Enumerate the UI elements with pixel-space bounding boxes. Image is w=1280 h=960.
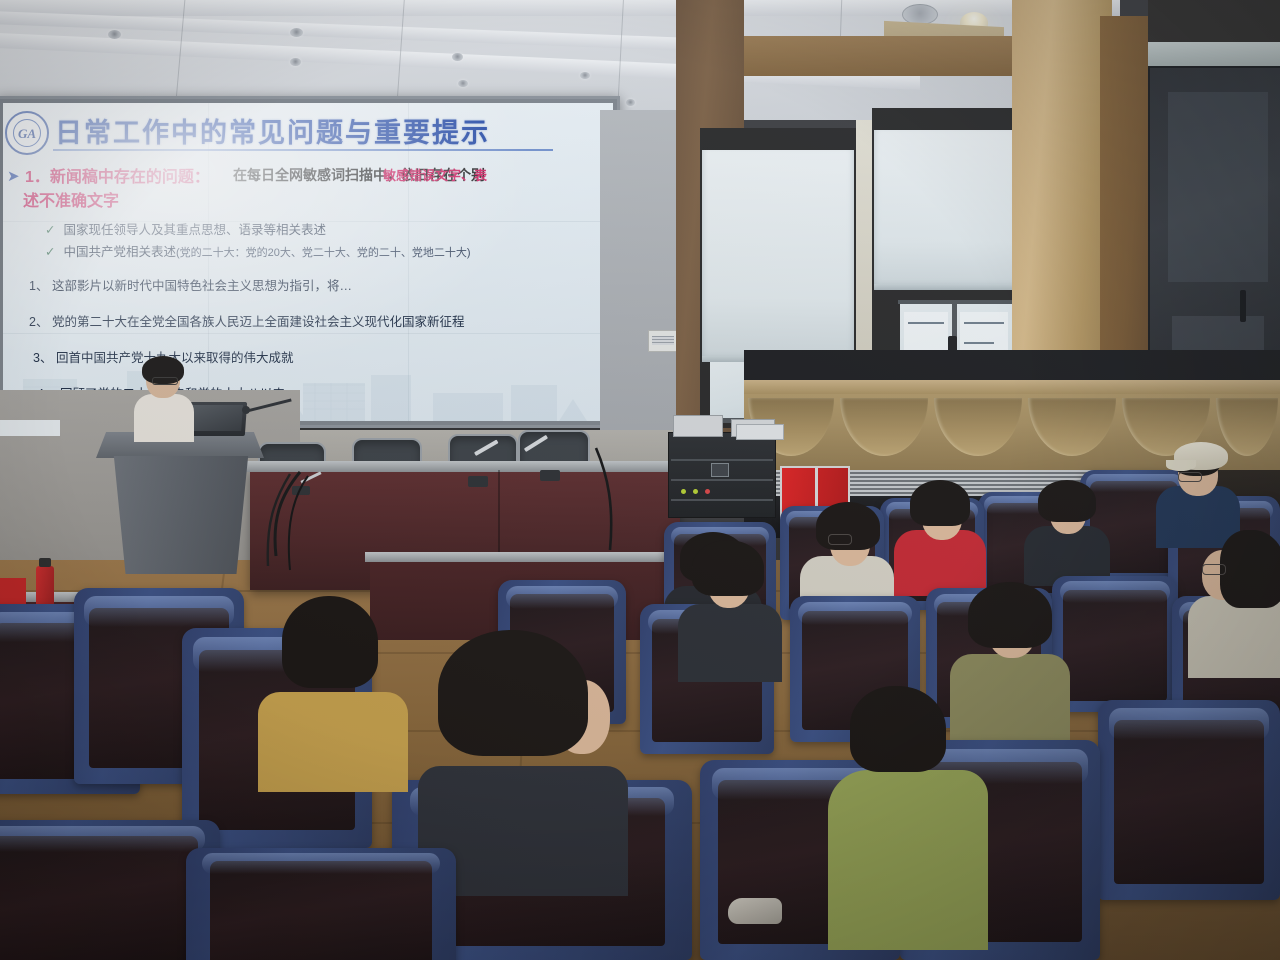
section-body-highlight: 敏感错误文字、表 [383,165,487,184]
list-item-number: 3、 [33,351,52,365]
audience-member [900,478,976,578]
av-equipment-rack [668,432,776,518]
check-item-paren: (党的二十大：党的20大、党二十大、党的二十、党地二十大) [176,247,471,259]
audience-member [268,596,388,746]
downlight-icon [452,53,463,61]
notice-line [964,342,994,344]
glasses-icon [828,534,852,545]
cable-bundle [588,446,648,556]
wood-header-beam [744,36,1014,76]
shoe [728,898,782,924]
window-roller-blind[interactable] [874,130,1018,290]
list-item: 2、 党的第二十大在全党全国各族人民迈上全面建设社会主义现代化国家新征程 [29,311,464,330]
window-valance [1148,42,1280,68]
section-number: 1．新闻稿中存在的问题： [25,163,210,187]
cap-brim [1166,460,1196,471]
cable-bundle [240,470,320,580]
downlight-icon [108,30,121,39]
wall-light-strip [0,420,60,436]
glasses-icon [1178,472,1202,482]
check-item-label: 国家现任领导人及其重点思想、语录等相关表述 [63,223,326,237]
audience-member [434,630,604,830]
auditorium-seat-empty[interactable] [186,848,456,960]
downlight-icon [290,28,303,37]
university-seal-logo: GA [5,111,49,155]
audience-member [806,500,884,604]
window-frame-top [898,300,1012,304]
projection-screen: GA 日常工作中的常见问题与重要提示 ➤ 1．新闻稿中存在的问题： 在每日全网敏… [0,96,620,428]
window-roller-blind[interactable] [702,150,854,362]
av-unit [736,424,784,440]
check-item-label: 中国共产党相关表述 [63,245,176,259]
glasses-icon [152,377,178,385]
microphone-base [468,476,488,487]
list-item-number: 2、 [29,315,48,329]
section-line2: 述不准确文字 [23,187,119,211]
check-item: ✓中国共产党相关表述(党的二十大：党的20大、党二十大、党的二十、党地二十大) [45,241,471,260]
glasses-icon [1202,564,1226,575]
lectern-microphone-head [242,406,250,414]
auditorium-scene: GA 日常工作中的常见问题与重要提示 ➤ 1．新闻稿中存在的问题： 在每日全网敏… [0,0,1280,960]
notice-line [964,322,1004,324]
check-icon: ✓ [45,223,55,237]
presenter [136,360,192,440]
audience-member [1030,478,1100,570]
check-item: ✓国家现任领导人及其重点思想、语录等相关表述 [45,219,326,238]
downlight-icon [458,80,468,87]
downlight-icon [626,99,635,106]
wall-dark-band [744,350,1280,382]
slide-content: GA 日常工作中的常见问题与重要提示 ➤ 1．新闻稿中存在的问题： 在每日全网敏… [3,103,613,421]
list-item-label: 这部影片以新时代中国特色社会主义思想为指引，将… [52,279,352,293]
list-item-label: 党的第二十大在全党全国各族人民迈上全面建设社会主义现代化国家新征程 [52,315,465,329]
list-item-number: 1、 [29,279,48,293]
check-icon: ✓ [45,245,55,259]
seal-text: GA [18,127,36,140]
notice-line [908,322,944,324]
bullet-arrow-icon: ➤ [7,167,20,185]
fire-extinguisher [36,566,54,608]
auditorium-seat[interactable] [1098,700,1280,900]
audience-member [1160,440,1232,536]
slide-title: 日常工作中的常见问题与重要提示 [55,111,490,150]
lectern [108,456,254,574]
audience-member [828,700,978,900]
audience-member [1196,528,1280,646]
microphone-base [540,470,560,481]
wall-control-panel [648,330,678,352]
title-underline [53,149,553,151]
ceiling-beam [0,0,1120,16]
auditorium-seat[interactable] [1052,576,1178,712]
audience-member [686,538,770,650]
window-handle[interactable] [1240,290,1246,322]
audience-member [960,580,1056,712]
list-item: 1、 这部影片以新时代中国特色社会主义思想为指引，将… [29,275,352,294]
downlight-icon [290,58,301,66]
downlight-icon [580,72,590,79]
